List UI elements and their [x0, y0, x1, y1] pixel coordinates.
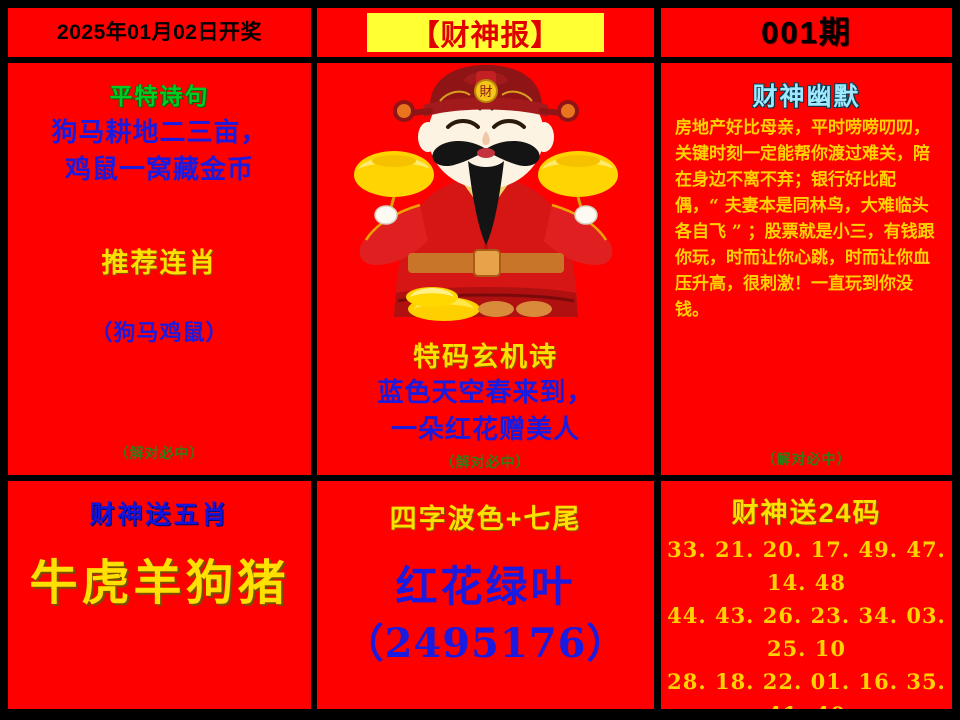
te-ma-poem-line-2: 一朵红花赠美人 [317, 412, 654, 449]
wave-color-value: 红花绿叶 [395, 562, 575, 611]
issue-number-text: 001期 [661, 8, 952, 57]
twenty-four-codes-title: 财神送24码 [731, 498, 881, 528]
wave-color-tail-panel: 四字波色+七尾 红花绿叶 （2495176） [317, 481, 654, 709]
publication-title-box: 【财神报】 [367, 13, 604, 52]
ping-te-poem-title: 平特诗句 [110, 83, 210, 109]
issue-number-cell: 001期 [661, 8, 952, 57]
code-row: 44. 43. 26. 23. 34. 03. 25. 10 [661, 599, 952, 665]
cai-shen-humor-body: 房地产好比母亲，平时唠唠叨叨，关键时刻一定能帮你渡过难关，陪在身边不离不弃；银行… [661, 115, 952, 323]
te-ma-poem-line-1: 蓝色天空春来到， [317, 375, 654, 412]
wave-color-tail-title: 四字波色+七尾 [390, 504, 582, 534]
five-zodiac-value: 牛虎羊狗猪 [29, 555, 289, 611]
svg-text:財: 財 [479, 85, 492, 100]
cai-shen-humor-title: 财神幽默 [752, 83, 860, 111]
god-of-wealth-icon: 財 [336, 65, 636, 333]
right-panel-note: （解对必中） [762, 451, 852, 467]
left-panel-note: （解对必中） [115, 445, 205, 461]
recommend-lian-xiao-value: （狗马鸡鼠） [90, 320, 228, 346]
twenty-four-codes-panel: 财神送24码 33. 21. 20. 17. 49. 47. 14. 48 44… [661, 481, 952, 709]
ping-te-poem-panel: 平特诗句 狗马耕地二三亩， 鸡鼠一窝藏金币 推荐连肖 （狗马鸡鼠） （解对必中） [8, 63, 311, 475]
cai-shen-bao-poster: 2025年01月02日开奖 【财神报】 001期 平特诗句 狗马耕地二三亩， 鸡… [0, 0, 960, 720]
code-row: 28. 18. 22. 01. 16. 35. 41. 40 [661, 665, 952, 709]
five-zodiac-panel: 财神送五肖 牛虎羊狗猪 [8, 481, 311, 709]
te-ma-poem-panel: 財 [317, 63, 654, 475]
publication-title-text: 【财神报】 [410, 12, 560, 54]
te-ma-poem-title: 特码玄机诗 [413, 342, 558, 372]
ping-te-poem-line-2: 鸡鼠一窝藏金币 [8, 152, 311, 189]
draw-date-text: 2025年01月02日开奖 [8, 8, 311, 57]
ping-te-poem-line-1: 狗马耕地二三亩， [8, 115, 311, 152]
code-row: 33. 21. 20. 17. 49. 47. 14. 48 [661, 533, 952, 599]
publication-title-cell: 【财神报】 [317, 8, 654, 57]
cai-shen-humor-panel: 财神幽默 房地产好比母亲，平时唠唠叨叨，关键时刻一定能帮你渡过难关，陪在身边不离… [661, 63, 952, 475]
recommend-lian-xiao-title: 推荐连肖 [102, 248, 218, 278]
center-panel-note: （解对必中） [441, 454, 531, 470]
tail-numbers-value: （2495176） [344, 620, 628, 667]
five-zodiac-title: 财神送五肖 [89, 501, 229, 529]
draw-date-cell: 2025年01月02日开奖 [8, 8, 311, 57]
